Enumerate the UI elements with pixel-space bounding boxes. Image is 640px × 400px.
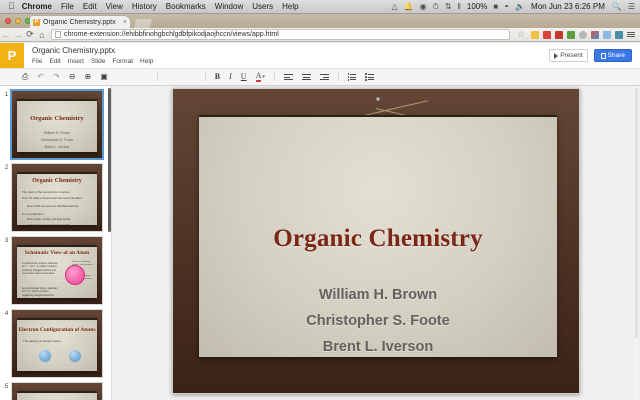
- thumb-bullet-1: The study of the compounds of carbon: [22, 190, 94, 194]
- align-right-button[interactable]: [320, 74, 329, 80]
- bold-button[interactable]: B: [215, 73, 220, 81]
- ext-red-icon[interactable]: [543, 31, 551, 39]
- extension-tray: ☆: [515, 29, 640, 40]
- screen:  Chrome File Edit View History Bookmark…: [0, 0, 640, 400]
- bell-icon[interactable]: 🔔: [404, 2, 414, 11]
- os-menu-users[interactable]: Users: [252, 2, 273, 11]
- toolbar-divider-3: [274, 72, 275, 82]
- ext-color-icon[interactable]: [591, 31, 599, 39]
- clock-icon[interactable]: ⏱: [433, 2, 439, 12]
- os-menu-chrome[interactable]: Chrome: [22, 2, 52, 11]
- slide-stage: Organic Chemistry William H. Brown Chris…: [112, 86, 640, 400]
- spotlight-search-icon[interactable]: 🔍: [612, 2, 622, 11]
- slide-title[interactable]: Organic Chemistry: [199, 225, 557, 253]
- volume-icon[interactable]: 🔈: [515, 2, 525, 11]
- filmstrip-item-2[interactable]: 2 Organic Chemistry The study of the com…: [0, 159, 112, 232]
- ext-gray-icon[interactable]: [579, 31, 587, 39]
- present-button[interactable]: Present: [549, 49, 587, 62]
- filmstrip-item-3[interactable]: 3 Schematic View of an Atom a small dens…: [0, 232, 112, 305]
- ext-redbook-icon[interactable]: [555, 31, 563, 39]
- minimize-window-button[interactable]: [15, 18, 21, 24]
- play-icon: [554, 53, 558, 59]
- zoom-in-icon[interactable]: ⊕: [85, 73, 92, 81]
- stage-scrollbar[interactable]: [634, 86, 639, 400]
- thumb-bullet-2: Over 10 million compounds have been iden…: [22, 196, 94, 200]
- bookmark-star-icon[interactable]: ☆: [515, 29, 527, 40]
- current-slide[interactable]: Organic Chemistry William H. Brown Chris…: [172, 88, 580, 394]
- numbered-list-button[interactable]: [348, 73, 357, 81]
- toolbar-divider-4: [338, 72, 339, 82]
- browser-tab-strip: P Organic Chemistry.pptx ×: [0, 14, 640, 28]
- address-bar[interactable]: chrome-extension://ehibbfinohgbchlgdbfpi…: [51, 29, 510, 40]
- orbital-diagram-left: [39, 350, 51, 362]
- window-controls: [5, 18, 31, 24]
- sync-icon[interactable]: ⇅: [445, 2, 452, 11]
- slide-number-5: 5: [2, 382, 11, 390]
- slide-thumbnail-5[interactable]: [11, 382, 103, 400]
- share-button[interactable]: Share: [594, 49, 632, 62]
- page-info-icon[interactable]: [55, 31, 61, 38]
- home-icon[interactable]: ⌂: [36, 30, 48, 40]
- ext-blue-icon[interactable]: [603, 31, 611, 39]
- app-menu-bar: File Edit Insert Slide Format Help: [32, 58, 160, 65]
- present-button-label: Present: [560, 52, 582, 59]
- italic-button[interactable]: I: [229, 73, 232, 81]
- text-color-button[interactable]: A ▾: [256, 72, 265, 82]
- powerpoint-favicon: P: [33, 19, 40, 26]
- thumb-bullet-6: intermediate in electronegativity (2.5): [27, 224, 94, 225]
- thumb-bullet-3: about 1000 new ones are identified each …: [27, 205, 94, 208]
- document-title[interactable]: Organic Chemistry.pptx: [32, 46, 160, 56]
- app-logo-icon: P: [0, 43, 24, 68]
- canvas-board: [17, 391, 97, 400]
- wall-hook-icon: [376, 97, 380, 101]
- thumb-title-4: Electron Configuration of Atoms: [17, 327, 97, 333]
- underline-button[interactable]: U: [241, 73, 247, 81]
- align-center-button[interactable]: [302, 74, 311, 80]
- thumb-author-3: Brent L. Iverson: [17, 145, 97, 149]
- os-menu-view[interactable]: View: [106, 2, 123, 11]
- slide-authors[interactable]: William H. Brown Christopher S. Foote Br…: [199, 282, 557, 357]
- thumb-bullet-2: an extranuclear space, diameter 10⁻¹⁰ m,…: [22, 287, 58, 297]
- app-menu-edit[interactable]: Edit: [49, 58, 60, 65]
- bulleted-list-button[interactable]: [365, 73, 374, 81]
- slide-number-3: 3: [2, 236, 11, 244]
- os-menu-bar:  Chrome File Edit View History Bookmark…: [0, 0, 640, 14]
- thumb-bullet-1: The pairing of electron spins: [23, 339, 61, 343]
- hamburger-menu-icon[interactable]: [627, 32, 635, 37]
- redo-icon[interactable]: ↷: [53, 73, 60, 81]
- ext-teal-icon[interactable]: [615, 31, 623, 39]
- app-menu-file[interactable]: File: [32, 58, 42, 65]
- canvas-board: Organic Chemistry The study of the compo…: [17, 172, 97, 225]
- slide-thumbnail-2[interactable]: Organic Chemistry The study of the compo…: [11, 163, 103, 232]
- share-button-label: Share: [608, 52, 625, 59]
- thumb-bullet-5: forms single, double, and triple bonds: [27, 218, 94, 221]
- canvas-board: Schematic View of an Atom a small dense …: [17, 245, 97, 298]
- forward-icon[interactable]: →: [12, 30, 24, 40]
- notification-center-icon[interactable]: ☰: [628, 2, 635, 11]
- filmstrip-item-5[interactable]: 5: [0, 378, 112, 400]
- app-menu-help[interactable]: Help: [140, 58, 153, 65]
- orbital-diagram-right: [69, 350, 81, 362]
- thumb-title-2: Organic Chemistry: [17, 178, 97, 184]
- ext-amber-icon[interactable]: [531, 31, 539, 39]
- browser-tab[interactable]: P Organic Chemistry.pptx ×: [30, 16, 130, 28]
- apple-icon[interactable]: : [8, 2, 15, 11]
- os-menu-bookmarks[interactable]: Bookmarks: [166, 2, 206, 11]
- back-icon[interactable]: ←: [0, 30, 12, 40]
- os-clock[interactable]: Mon Jun 23 6:26 PM: [531, 2, 605, 11]
- browser-toolbar: ← → ⟳ ⌂ chrome-extension://ehibbfinohgbc…: [0, 28, 640, 42]
- address-bar-url: chrome-extension://ehibbfinohgbchlgdbfpi…: [64, 31, 279, 38]
- app-menu-format[interactable]: Format: [112, 58, 133, 65]
- slide-number-2: 2: [2, 163, 11, 171]
- thumb-title-3: Schematic View of an Atom: [17, 250, 97, 256]
- reload-icon[interactable]: ⟳: [24, 29, 36, 40]
- toolbar-divider-1: [157, 72, 158, 82]
- slide-filmstrip[interactable]: 1 Organic Chemistry William H. Brown Chr…: [0, 86, 112, 400]
- os-menu-edit[interactable]: Edit: [83, 2, 97, 11]
- app-menu-insert[interactable]: Insert: [68, 58, 84, 65]
- thumb-author-1: William H. Brown: [17, 131, 97, 135]
- author-line-1: William H. Brown: [199, 282, 557, 308]
- wifi-icon[interactable]: ◓: [504, 2, 509, 11]
- text-color-label: A: [256, 72, 262, 82]
- battery-percent-label: 100%: [467, 2, 487, 11]
- filmstrip-item-1[interactable]: 1 Organic Chemistry William H. Brown Chr…: [0, 86, 112, 159]
- undo-icon[interactable]: ↶: [37, 73, 44, 81]
- os-menu-window[interactable]: Window: [215, 2, 243, 11]
- app-menu-slide[interactable]: Slide: [91, 58, 105, 65]
- close-window-button[interactable]: [5, 18, 11, 24]
- slide-number-1: 1: [2, 90, 11, 98]
- align-left-button[interactable]: [284, 74, 293, 80]
- chevron-down-icon: ▾: [262, 75, 265, 80]
- slide-number-4: 4: [2, 309, 11, 317]
- battery-icon[interactable]: ■: [493, 2, 498, 11]
- os-menu-help[interactable]: Help: [282, 2, 298, 11]
- zoom-out-icon[interactable]: ⊖: [69, 73, 76, 81]
- os-menu-history[interactable]: History: [132, 2, 157, 11]
- editing-toolbar: ⎙ ↶ ↷ ⊖ ⊕ ▣ B I U A ▾: [0, 68, 640, 86]
- workspace: 1 Organic Chemistry William H. Brown Chr…: [0, 86, 640, 400]
- os-menu-file[interactable]: File: [61, 2, 74, 11]
- slide-thumbnail-4[interactable]: Electron Configuration of Atoms The pair…: [11, 309, 103, 378]
- ext-green-icon[interactable]: [567, 31, 575, 39]
- dropbox-icon[interactable]: △: [392, 2, 398, 11]
- canvas-board: Electron Configuration of Atoms The pair…: [17, 318, 97, 371]
- browser-tab-title: Organic Chemistry.pptx: [43, 19, 121, 26]
- print-icon[interactable]: ⎙: [22, 73, 28, 81]
- thumb-bullet-1: a small dense nucleus, diameter 10⁻¹⁴ - …: [22, 262, 58, 276]
- slide-thumbnail-1[interactable]: Organic Chemistry William H. Brown Chris…: [11, 90, 103, 159]
- new-tab-button[interactable]: [134, 19, 152, 28]
- slide-canvas: Organic Chemistry William H. Brown Chris…: [199, 115, 557, 357]
- slide-thumbnail-3[interactable]: Schematic View of an Atom a small dense …: [11, 236, 103, 305]
- lock-icon: [601, 53, 606, 59]
- author-line-3: Brent L. Iverson: [199, 334, 557, 357]
- thumb-title-1: Organic Chemistry: [17, 115, 97, 122]
- thumb-bullet-4: C is a small atom: [22, 212, 94, 216]
- filmstrip-item-4[interactable]: 4 Electron Configuration of Atoms The pa…: [0, 305, 112, 378]
- app-header: P Organic Chemistry.pptx File Edit Inser…: [0, 43, 640, 68]
- author-line-2: Christopher S. Foote: [199, 308, 557, 334]
- close-tab-icon[interactable]: ×: [123, 19, 127, 26]
- thumb-author-2: Christopher S. Foote: [17, 138, 97, 142]
- evernote-icon[interactable]: ◉: [420, 2, 427, 11]
- toolbar-divider-2: [205, 72, 206, 82]
- textbox-icon[interactable]: ▣: [100, 73, 108, 81]
- atom-illustration: [65, 265, 85, 285]
- bluetooth-icon[interactable]: ‖: [458, 2, 461, 11]
- canvas-board: Organic Chemistry William H. Brown Chris…: [17, 99, 97, 152]
